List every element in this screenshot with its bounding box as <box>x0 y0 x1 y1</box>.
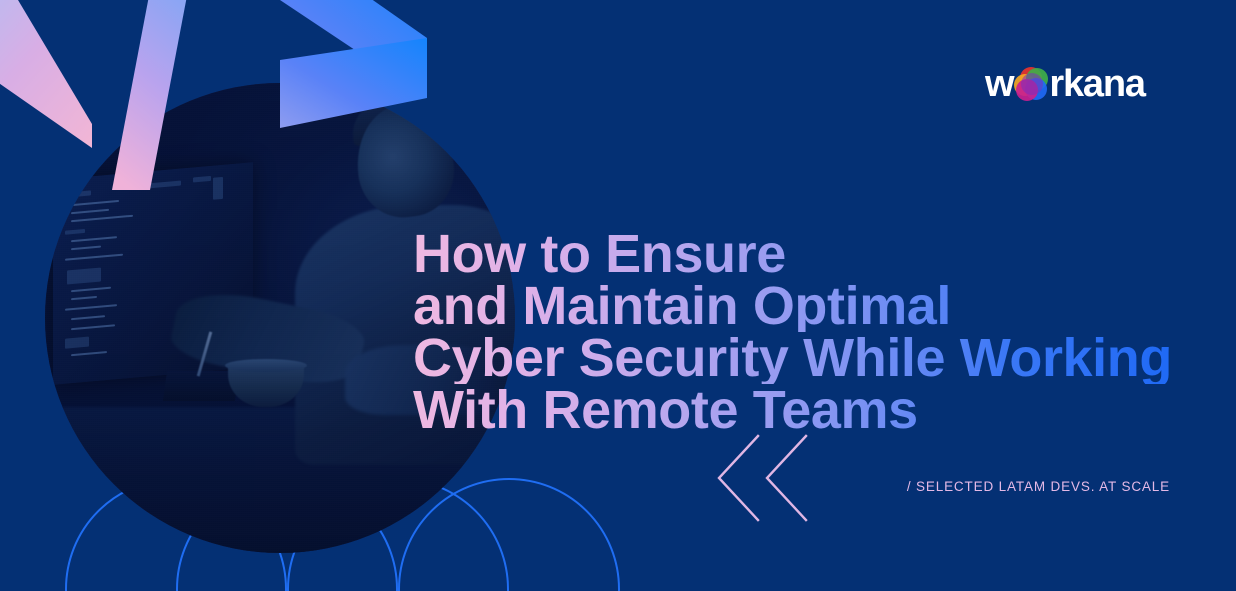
workana-logo[interactable]: w rkana <box>985 63 1145 105</box>
banner-root: w rkana How to Ensure and Maintain Optim… <box>0 0 1236 591</box>
chevron-left-1 <box>719 436 758 520</box>
page-title-line-1: How to Ensure <box>413 228 1203 280</box>
logo-text-after: rkana <box>1049 65 1144 103</box>
tagline: / SELECTED LATAM DEVS. AT SCALE <box>907 479 1170 494</box>
page-title-line-3: Cyber Security While Working <box>413 332 1203 384</box>
page-title-line-2: and Maintain Optimal <box>413 280 1203 332</box>
logo-text-before: w <box>985 65 1013 103</box>
page-title-line-4: With Remote Teams <box>413 384 1203 436</box>
double-chevron-left-icon <box>714 433 810 523</box>
page-title: How to Ensure and Maintain Optimal Cyber… <box>413 228 1203 436</box>
logo-color-wheel-icon <box>1014 67 1048 101</box>
chevron-left-2 <box>767 436 806 520</box>
